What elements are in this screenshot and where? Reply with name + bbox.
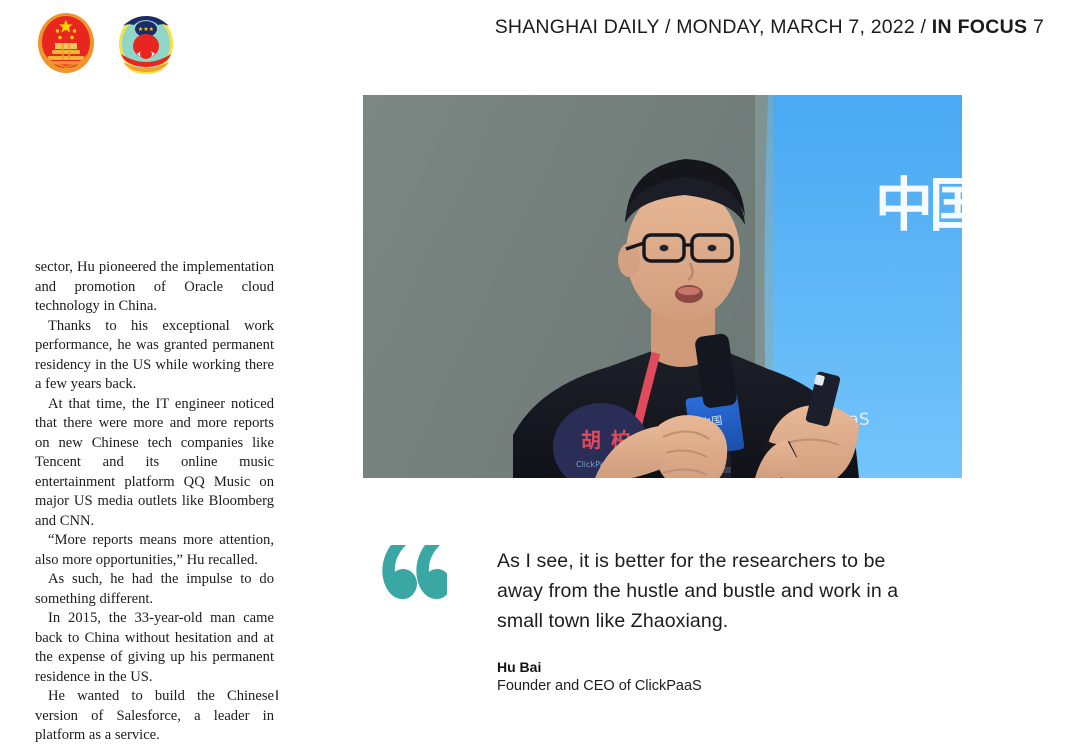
screen-chinese-text: 中 bbox=[875, 171, 933, 239]
pull-quote: As I see, it is better for the researche… bbox=[497, 546, 927, 696]
article-paragraph: He wanted to build the Chinese version o… bbox=[35, 687, 274, 746]
article-paragraph: sector, Hu pioneered the implementation … bbox=[35, 258, 274, 317]
attribution-name: Hu Bai bbox=[497, 658, 927, 676]
page-header: SHANGHAI DAILY / MONDAY, MARCH 7, 2022 /… bbox=[0, 16, 1044, 39]
article-paragraph: “More reports means more attention, also… bbox=[35, 531, 274, 570]
section-name: IN FOCUS bbox=[932, 16, 1028, 38]
newspaper-page: ★★★ SHANGHAI DAILY / MONDAY, MARCH 7, 20… bbox=[0, 0, 1079, 717]
publication-name: SHANGHAI DAILY bbox=[495, 16, 660, 38]
article-paragraph: Thanks to his exceptional work performan… bbox=[35, 317, 274, 395]
quotation-mark-icon bbox=[381, 543, 447, 605]
article-column: sector, Hu pioneered the implementation … bbox=[35, 258, 274, 746]
photo-illustration: 中 国 bbox=[363, 95, 962, 478]
attribution-role: Founder and CEO of ClickPaaS bbox=[497, 676, 927, 696]
pull-quote-attribution: Hu Bai Founder and CEO of ClickPaaS bbox=[497, 658, 927, 696]
feature-photo: 中 国 bbox=[363, 95, 962, 478]
header-separator-1: / bbox=[665, 16, 671, 38]
svg-text:国: 国 bbox=[929, 171, 962, 239]
column-continuation-mark bbox=[276, 690, 278, 700]
pull-quote-text: As I see, it is better for the researche… bbox=[497, 546, 927, 636]
photo-badge-name: 胡 bbox=[581, 428, 601, 452]
article-paragraph: In 2015, the 33-year-old man came back t… bbox=[35, 609, 274, 687]
article-paragraph: As such, he had the impulse to do someth… bbox=[35, 570, 274, 609]
issue-date: MONDAY, MARCH 7, 2022 bbox=[676, 16, 915, 38]
header-separator-2: / bbox=[921, 16, 927, 38]
article-paragraph: At that time, the IT engineer noticed th… bbox=[35, 395, 274, 532]
page-number: 7 bbox=[1033, 16, 1044, 38]
